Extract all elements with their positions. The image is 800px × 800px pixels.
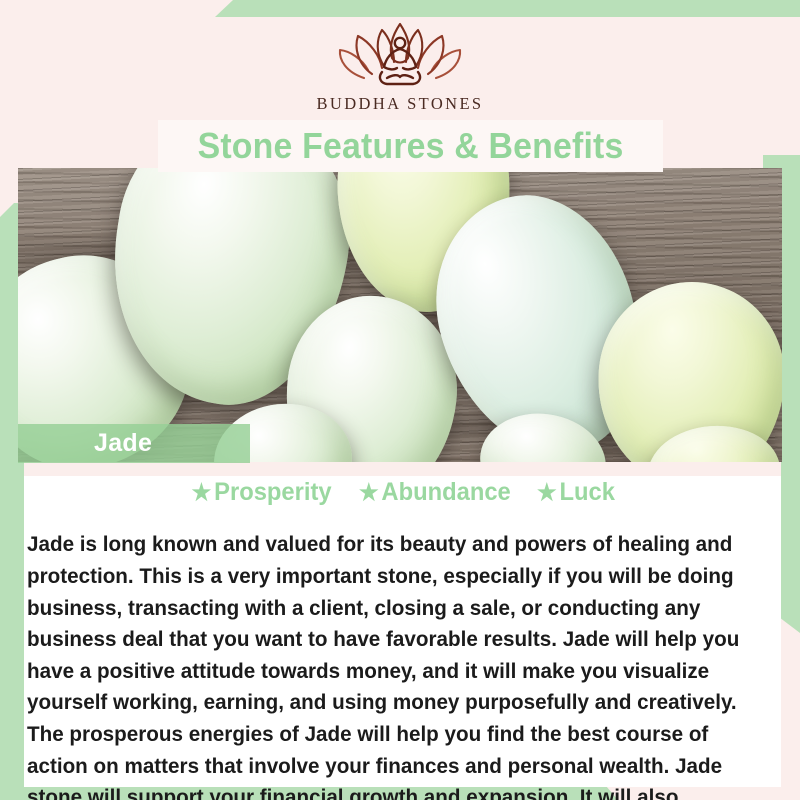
star-icon: ★ [538, 479, 558, 505]
stone-name-label: Jade [94, 429, 152, 458]
panel-top-tint [24, 462, 781, 476]
keyword-label: Prosperity [214, 478, 331, 506]
keyword-label: Abundance [382, 478, 511, 506]
hero-photo [18, 168, 782, 462]
keyword-label: Luck [560, 478, 615, 506]
brand-wordmark: BUDDHA STONES [0, 94, 800, 114]
star-icon: ★ [359, 479, 379, 505]
title-banner: Stone Features & Benefits [158, 120, 663, 172]
stone-description-text: Jade is long known and valued for its be… [27, 529, 752, 800]
stone-benefits-infographic: BUDDHA STONES Stone Features & Benefits … [0, 0, 800, 800]
keyword-item-abundance: ★Abundance [359, 478, 511, 507]
content-panel: ★Prosperity ★Abundance ★Luck Jade is lon… [24, 462, 781, 787]
page-title: Stone Features & Benefits [198, 125, 624, 167]
lotus-meditation-icon [334, 14, 466, 88]
stone-name-badge: Jade [18, 424, 250, 463]
star-icon: ★ [191, 479, 211, 505]
keyword-item-luck: ★Luck [538, 478, 616, 507]
brand-logo: BUDDHA STONES [0, 14, 800, 114]
keyword-item-prosperity: ★Prosperity [191, 478, 331, 507]
keyword-list: ★Prosperity ★Abundance ★Luck [24, 478, 781, 507]
